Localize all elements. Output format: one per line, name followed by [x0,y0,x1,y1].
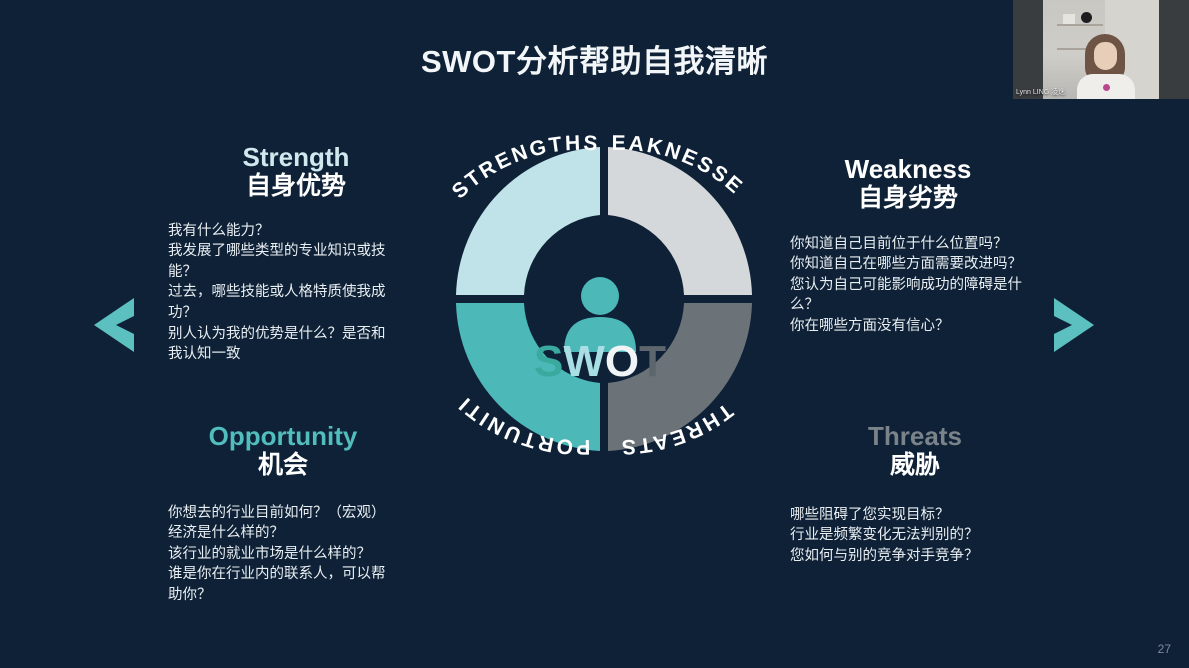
strength-body-text: 我有什么能力？ 我发展了哪些类型的专业知识或技能？ 过去，哪些技能或人格特质使我… [168,221,396,365]
webcam-video-feed [1043,0,1159,99]
opportunity-heading-cn: 机会 [168,451,398,481]
quadrant-threats: Threats 威胁 哪些阻碍了您实现目标？ 行业是频繁变化无法判别的？ 您如何… [790,422,1040,566]
quadrant-strength: Strength 自身优势 我有什么能力？ 我发展了哪些类型的专业知识或技能？ … [168,143,396,365]
opportunity-body-text: 你想去的行业目前如何？（宏观）经济是什么样的？ 该行业的就业市场是什么样的？ 谁… [168,503,398,606]
swot-letter-s: S [534,337,563,386]
quadrant-opportunity: Opportunity 机会 你想去的行业目前如何？（宏观）经济是什么样的？ 该… [168,422,398,606]
swot-center-word: SWOT [424,340,776,384]
webcam-participant-name: Lynn LING 凌逸 [1016,89,1065,97]
threats-heading-en: Threats [790,422,1040,451]
swot-donut-diagram: STRENGTHS WEAKNESSES OPPORTUNITIES THREA… [424,112,776,478]
webcam-person-face [1094,42,1117,70]
strength-heading-cn: 自身优势 [196,172,396,202]
weakness-heading-cn: 自身劣势 [790,184,1026,214]
page-number: 27 [1158,642,1171,656]
opportunity-heading-en: Opportunity [168,422,398,451]
quadrant-weakness: Weakness 自身劣势 你知道自己目前位于什么位置吗？ 你知道自己在哪些方面… [790,155,1026,337]
swot-letter-w: W [563,337,605,386]
previous-slide-icon[interactable] [92,294,136,356]
webcam-bg-box [1063,14,1075,24]
webcam-bg-object [1081,12,1092,23]
webcam-bg-shelf [1057,24,1103,26]
swot-letter-t: T [639,337,666,386]
next-slide-icon[interactable] [1052,294,1096,356]
threats-heading-cn: 威胁 [790,451,1040,481]
strength-headings: Strength 自身优势 [168,143,396,202]
arc-strengths [456,147,600,295]
webcam-shirt-logo [1103,84,1110,91]
weakness-heading-en: Weakness [790,155,1026,184]
weakness-body-text: 你知道自己目前位于什么位置吗？ 你知道自己在哪些方面需要改进吗？ 您认为自己可能… [790,234,1026,337]
strength-heading-en: Strength [196,143,396,172]
swot-letter-o: O [605,337,639,386]
webcam-overlay[interactable]: Lynn LING 凌逸 [1013,0,1189,99]
threats-body-text: 哪些阻碍了您实现目标？ 行业是频繁变化无法判别的？ 您如何与别的竞争对手竞争？ [790,505,1040,567]
page-title: SWOT分析帮助自我清晰 [0,36,1189,81]
